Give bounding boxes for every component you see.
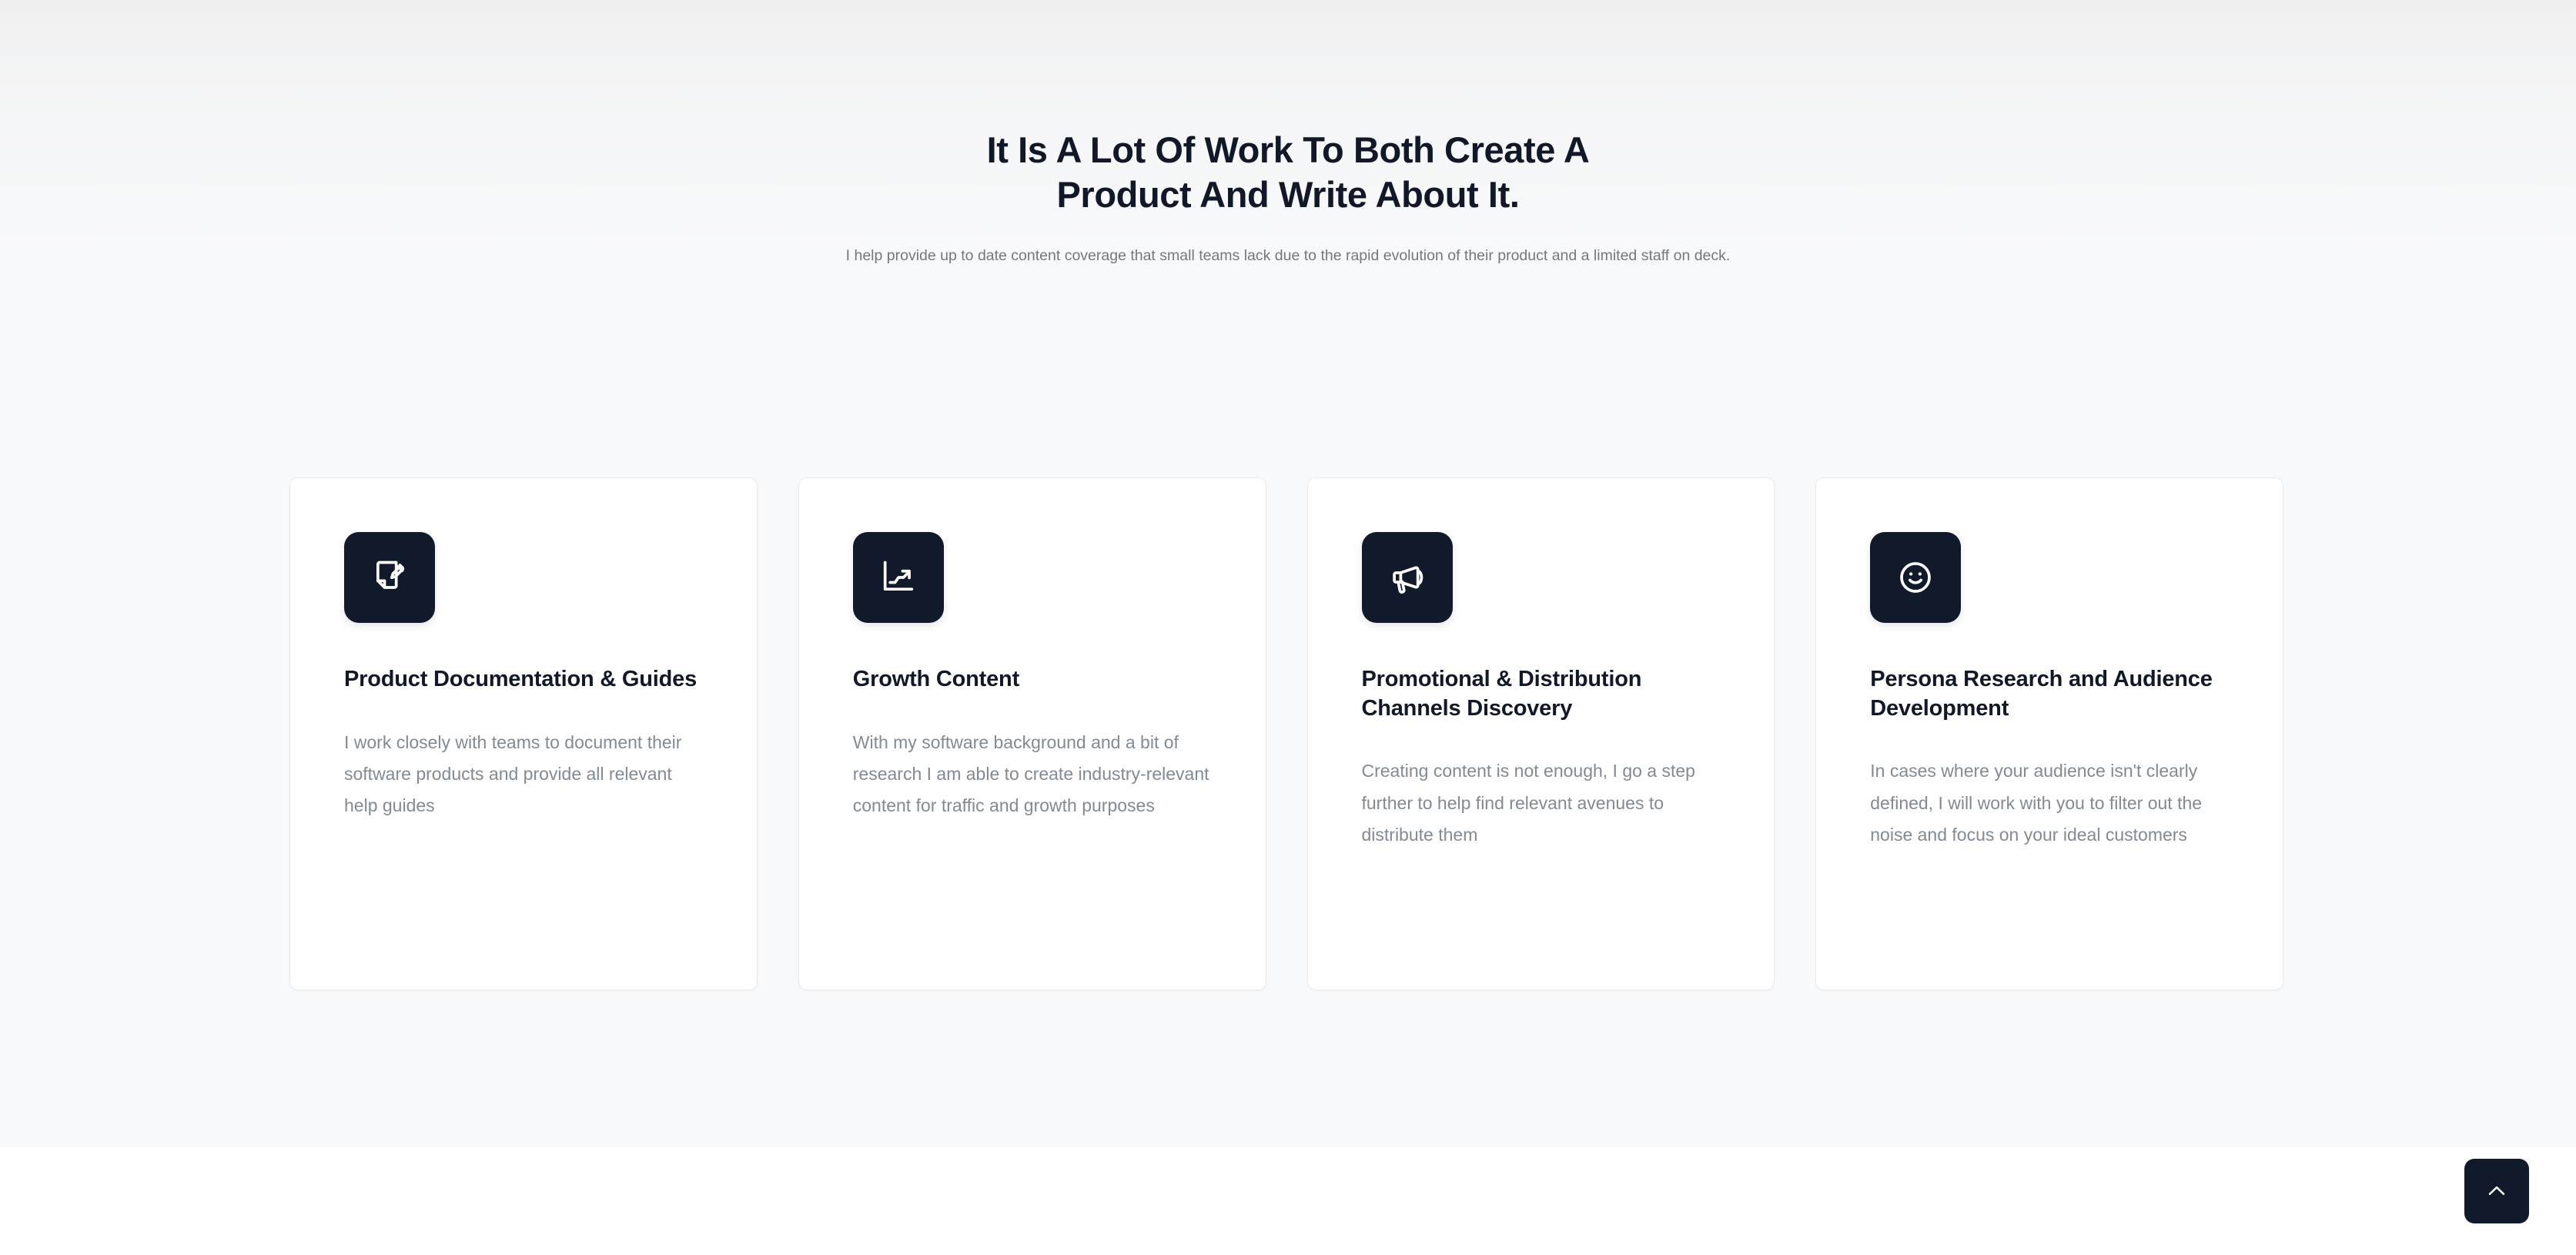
service-card[interactable]: Promotional & Distribution Channels Disc… — [1307, 477, 1775, 990]
page-title: It Is A Lot Of Work To Both Create A Pro… — [664, 128, 1912, 217]
file-edit-icon — [344, 532, 435, 623]
chart-line-up-icon — [853, 532, 944, 623]
service-card-title: Persona Research and Audience Developmen… — [1870, 665, 2234, 723]
service-cards-grid: Product Documentation & Guides I work cl… — [289, 477, 2283, 990]
page-subtitle: I help provide up to date content covera… — [741, 244, 1835, 267]
service-card-body: In cases where your audience isn't clear… — [1870, 755, 2234, 851]
service-card-title: Product Documentation & Guides — [344, 665, 708, 694]
chevron-up-icon — [2483, 1177, 2511, 1205]
section-header: It Is A Lot Of Work To Both Create A Pro… — [664, 128, 1912, 267]
megaphone-icon — [1362, 532, 1453, 623]
page-root: It Is A Lot Of Work To Both Create A Pro… — [0, 0, 2576, 1255]
smiley-face-icon — [1870, 532, 1961, 623]
service-card[interactable]: Growth Content With my software backgrou… — [798, 477, 1266, 990]
page-title-line-2: Product And Write About It. — [1056, 174, 1519, 215]
service-card-title: Promotional & Distribution Channels Disc… — [1362, 665, 1726, 723]
service-card-title: Growth Content — [853, 665, 1217, 694]
page-title-line-1: It Is A Lot Of Work To Both Create A — [987, 129, 1590, 170]
services-section: It Is A Lot Of Work To Both Create A Pro… — [0, 0, 2576, 1147]
service-card-body: I work closely with teams to document th… — [344, 727, 708, 822]
service-card-body: With my software background and a bit of… — [853, 727, 1217, 822]
scroll-to-top-button[interactable] — [2464, 1159, 2529, 1223]
service-card[interactable]: Product Documentation & Guides I work cl… — [289, 477, 758, 990]
service-card-body: Creating content is not enough, I go a s… — [1362, 755, 1726, 851]
service-card[interactable]: Persona Research and Audience Developmen… — [1815, 477, 2283, 990]
